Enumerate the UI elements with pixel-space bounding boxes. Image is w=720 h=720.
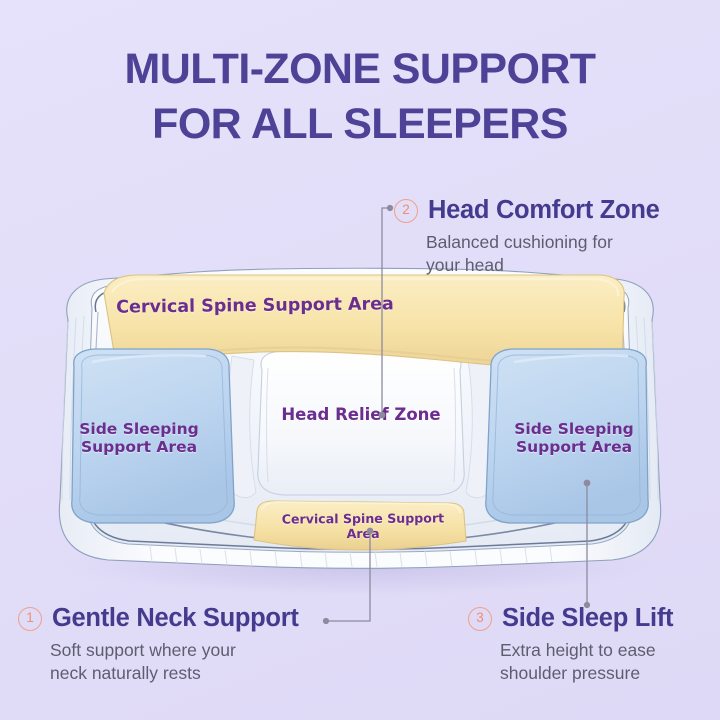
bottom-rim-ribbing: [150, 546, 552, 567]
callout-3-title: Side Sleep Lift: [502, 604, 673, 633]
callout-side-sleep-lift[interactable]: 3 Side Sleep Lift Extra height to ease s…: [468, 604, 673, 686]
pillow-label-cervical-bottom: Cervical Spine Support Area: [265, 511, 461, 542]
callout-head-comfort-zone[interactable]: 2 Head Comfort Zone Balanced cushioning …: [394, 196, 660, 278]
pillow-label-side-sleeping-right: Side Sleeping Support Area: [500, 420, 648, 457]
callout-3-number-badge: 3: [468, 607, 492, 631]
callout-1-header: 1 Gentle Neck Support: [18, 604, 299, 633]
callout-2-description: Balanced cushioning for your head: [426, 231, 660, 278]
gusset-ribbing-left: [62, 316, 84, 500]
callout-2-title: Head Comfort Zone: [428, 196, 660, 225]
callout-1-title: Gentle Neck Support: [52, 604, 299, 633]
title-line-1: MULTI-ZONE SUPPORT: [0, 42, 720, 97]
connector-line-3: [584, 480, 591, 609]
pillow-label-side-sleeping-left: Side Sleeping Support Area: [65, 420, 213, 457]
callout-3-description: Extra height to ease shoulder pressure: [500, 639, 673, 686]
pillow-shadow: [60, 536, 660, 596]
fold-left: [228, 356, 256, 498]
callout-2-number-badge: 2: [394, 199, 418, 223]
pillow-label-cervical-top: Cervical Spine Support Area: [110, 294, 400, 318]
fold-right: [466, 356, 494, 498]
pillow-label-head-relief: Head Relief Zone: [278, 405, 444, 424]
callout-1-description: Soft support where your neck naturally r…: [50, 639, 299, 686]
callout-3-header: 3 Side Sleep Lift: [468, 604, 673, 633]
callout-gentle-neck-support[interactable]: 1 Gentle Neck Support Soft support where…: [18, 604, 299, 686]
callout-1-number-badge: 1: [18, 607, 42, 631]
title-line-2: FOR ALL SLEEPERS: [0, 97, 720, 152]
infographic-canvas: MULTI-ZONE SUPPORT FOR ALL SLEEPERS: [0, 0, 720, 720]
connector-line-1: [323, 528, 374, 625]
cervical-spine-support-area-top: [104, 275, 624, 370]
page-title: MULTI-ZONE SUPPORT FOR ALL SLEEPERS: [0, 42, 720, 151]
callout-2-header: 2 Head Comfort Zone: [394, 196, 660, 225]
gusset-ribbing-right: [636, 316, 658, 500]
